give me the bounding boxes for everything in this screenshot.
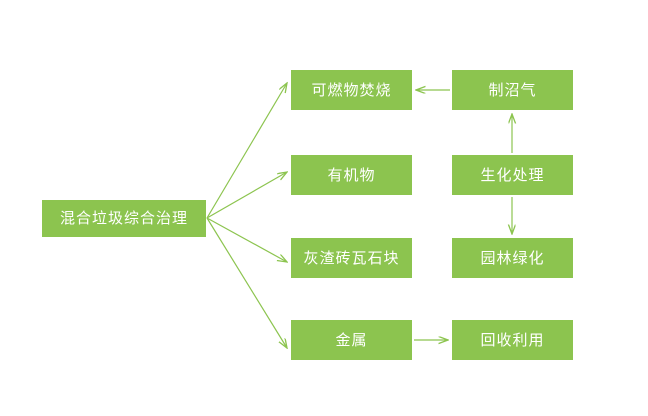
node-organic-matter[interactable]: 有机物 xyxy=(291,155,412,195)
node-landscaping[interactable]: 园林绿化 xyxy=(452,238,573,278)
edge-root-to-metal xyxy=(207,218,287,348)
node-ash-brick-tile-stone[interactable]: 灰渣砖瓦石块 xyxy=(291,238,412,278)
edge-root-to-ash-brick xyxy=(207,218,287,262)
node-biogas-production[interactable]: 制沼气 xyxy=(452,70,573,110)
node-metal[interactable]: 金属 xyxy=(291,320,412,360)
diagram-canvas: 混合垃圾综合治理 可燃物焚烧 有机物 灰渣砖瓦石块 金属 制沼气 生化处理 园林… xyxy=(0,0,648,416)
node-combustible-incineration[interactable]: 可燃物焚烧 xyxy=(291,70,412,110)
edge-root-to-combustible xyxy=(207,83,287,218)
node-biochemical-treatment[interactable]: 生化处理 xyxy=(452,155,573,195)
edge-root-to-organic xyxy=(207,172,287,218)
node-recycling-reuse[interactable]: 回收利用 xyxy=(452,320,573,360)
node-mixed-waste-treatment[interactable]: 混合垃圾综合治理 xyxy=(42,200,206,237)
